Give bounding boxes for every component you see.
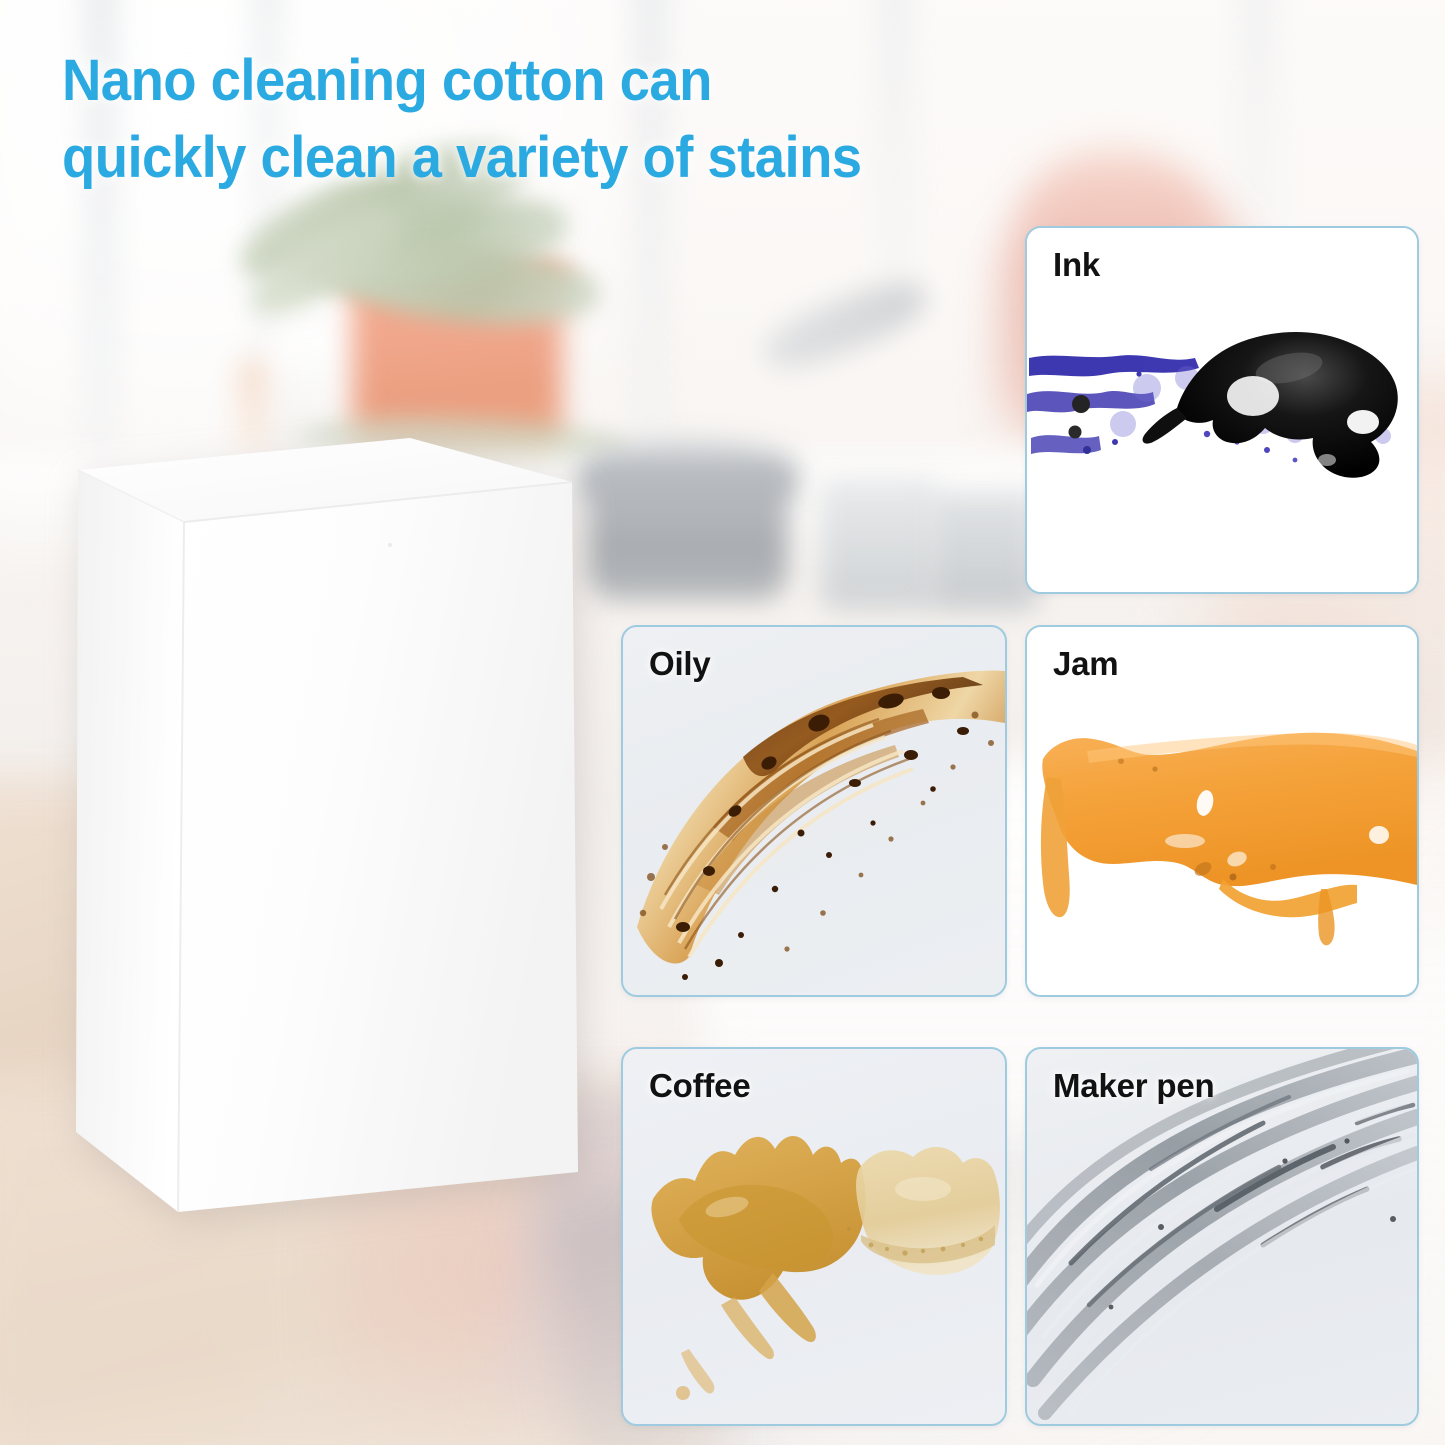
product-infographic: Nano cleaning cotton can quickly clean a…	[0, 0, 1445, 1445]
stain-card-label: Jam	[1053, 645, 1118, 683]
coffee-splash	[651, 1136, 1000, 1400]
stain-card-jam[interactable]: Jam	[1025, 625, 1419, 997]
stain-card-label: Maker pen	[1053, 1067, 1214, 1105]
page-title: Nano cleaning cotton can quickly clean a…	[62, 42, 1058, 196]
sponge-side-face	[76, 470, 184, 1212]
stain-card-ink[interactable]: Ink	[1025, 226, 1419, 594]
background-container	[930, 492, 1038, 610]
stain-card-coffee[interactable]: Coffee	[621, 1047, 1007, 1426]
product-sponge-image	[60, 430, 590, 1215]
background-pot	[588, 468, 788, 600]
stain-card-makerpen[interactable]: Maker pen	[1025, 1047, 1419, 1426]
stain-art-coffee	[623, 1049, 1005, 1424]
stain-card-label: Coffee	[649, 1067, 750, 1105]
oily-brush-stroke	[637, 671, 1005, 980]
stain-art-makerpen	[1027, 1049, 1417, 1424]
background-window-frame	[1240, 0, 1274, 260]
stain-card-label: Ink	[1053, 246, 1100, 284]
stain-card-oily[interactable]: Oily	[621, 625, 1007, 997]
background-container	[820, 478, 938, 610]
sponge-front-face	[178, 482, 578, 1212]
stain-card-label: Oily	[649, 645, 711, 683]
